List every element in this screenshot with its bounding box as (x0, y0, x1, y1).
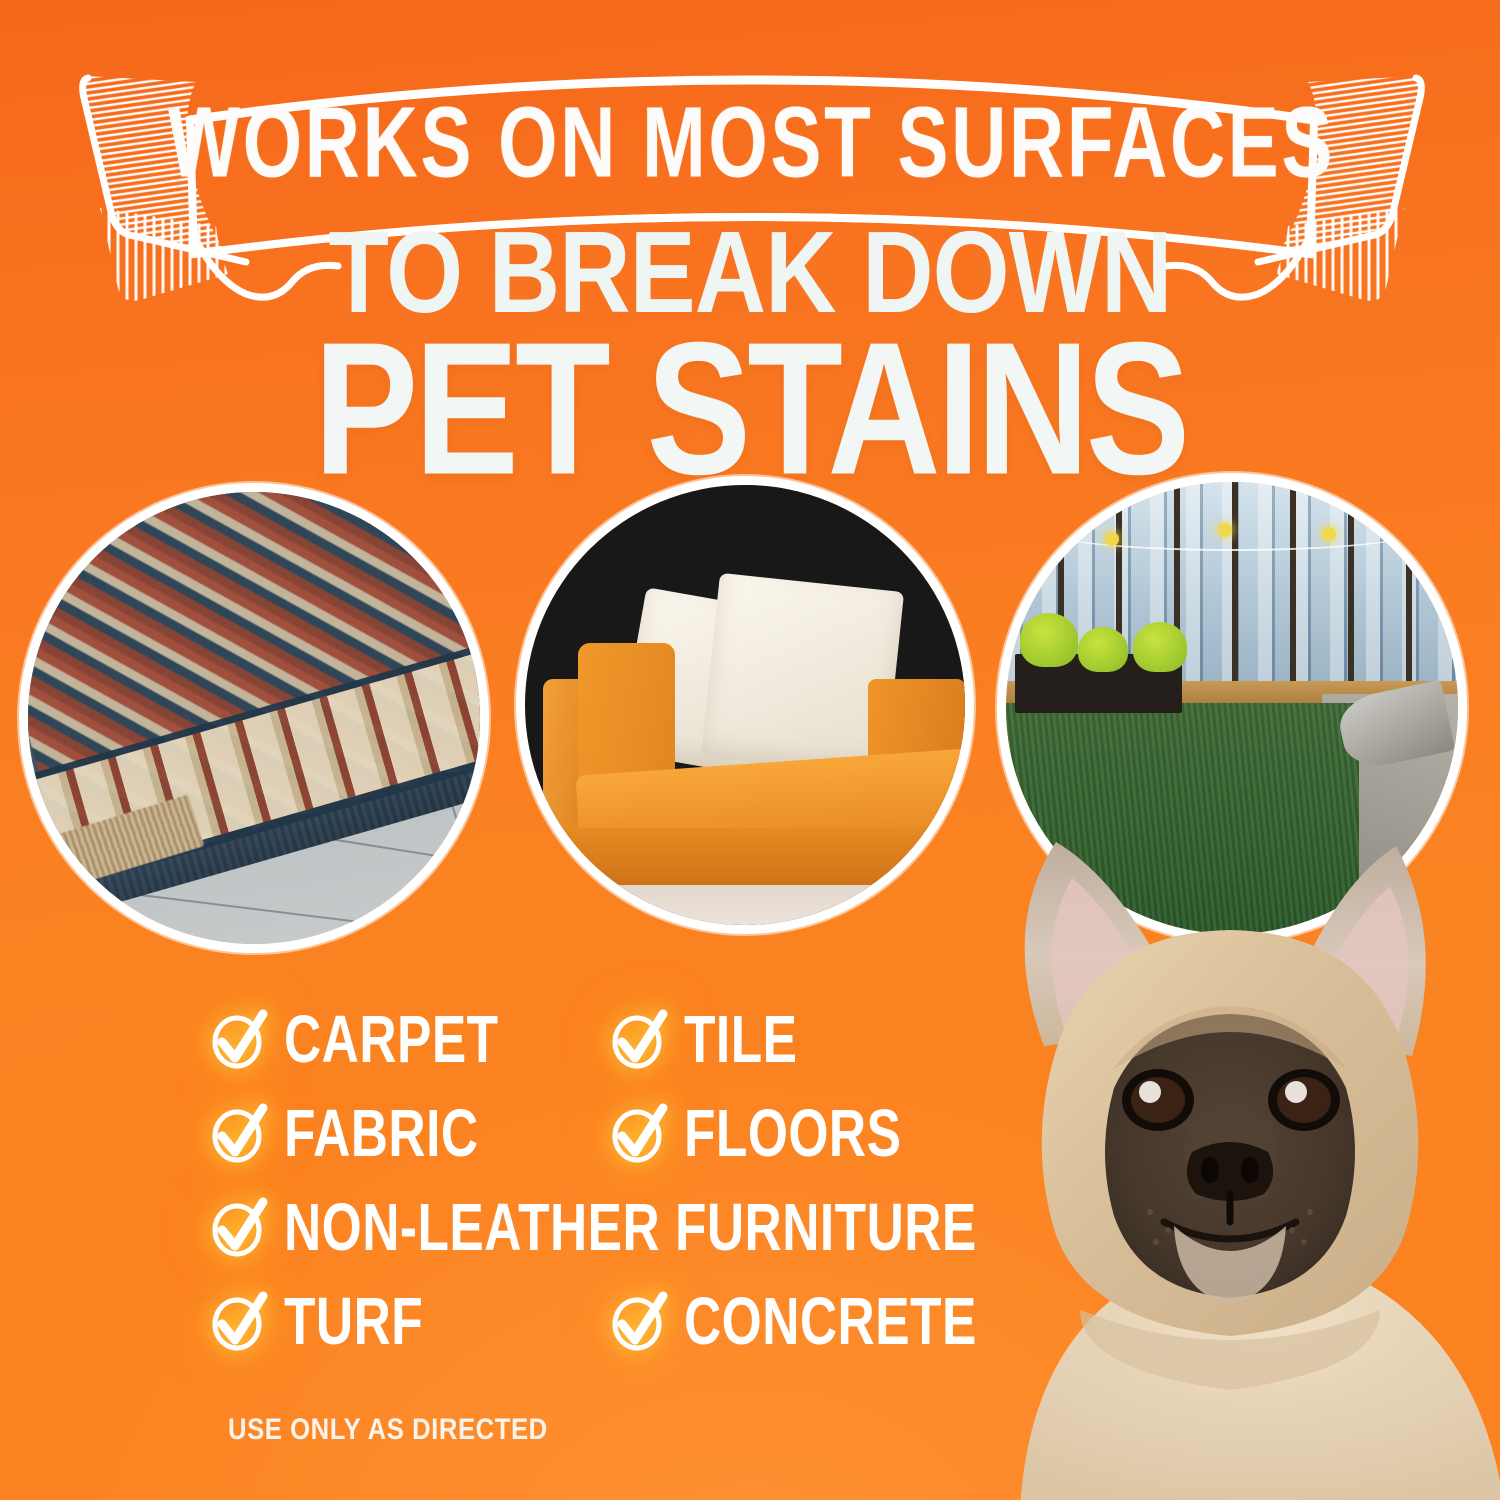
disclaimer-text: USE ONLY AS DIRECTED (228, 1412, 548, 1446)
product-feature-poster: WORKS ON MOST SURFACES TO BREAK DOWN PET… (0, 0, 1500, 1500)
checklist-item-non-leather-furniture: NON-LEATHER FURNITURE (208, 1196, 1037, 1258)
turf-plant (1020, 613, 1079, 667)
checklist-label: TILE (684, 1005, 797, 1072)
sofa-base (560, 828, 965, 885)
dog-illustration-icon (960, 770, 1500, 1500)
check-icon (208, 1196, 270, 1258)
checklist-item-fabric: FABRIC (208, 1102, 608, 1164)
checklist-label: CARPET (284, 1005, 499, 1072)
checklist-item-concrete: CONCRETE (608, 1290, 1002, 1352)
photo-orange-sofa-with-cream-pillows (525, 485, 965, 925)
checklist-item-tile: TILE (608, 1008, 807, 1070)
checklist-label: FLOORS (684, 1099, 901, 1166)
checklist-label: TURF (284, 1287, 423, 1354)
turf-plant (1078, 627, 1128, 672)
check-icon (208, 1102, 270, 1164)
checklist-label: NON-LEATHER FURNITURE (284, 1193, 977, 1260)
checklist-label: CONCRETE (684, 1287, 977, 1354)
checklist-item-floors: FLOORS (608, 1102, 920, 1164)
check-icon (208, 1008, 270, 1070)
check-icon (608, 1102, 670, 1164)
checklist-item-turf: TURF (208, 1290, 608, 1352)
check-icon (608, 1008, 670, 1070)
check-icon (608, 1290, 670, 1352)
check-icon (208, 1290, 270, 1352)
photo-persian-rug-on-tile-floor (28, 492, 480, 944)
turf-plant (1133, 622, 1187, 672)
checklist-label: FABRIC (284, 1099, 479, 1166)
checklist-item-carpet: CARPET (208, 1008, 608, 1070)
french-bulldog-puppy-photo (960, 770, 1500, 1500)
